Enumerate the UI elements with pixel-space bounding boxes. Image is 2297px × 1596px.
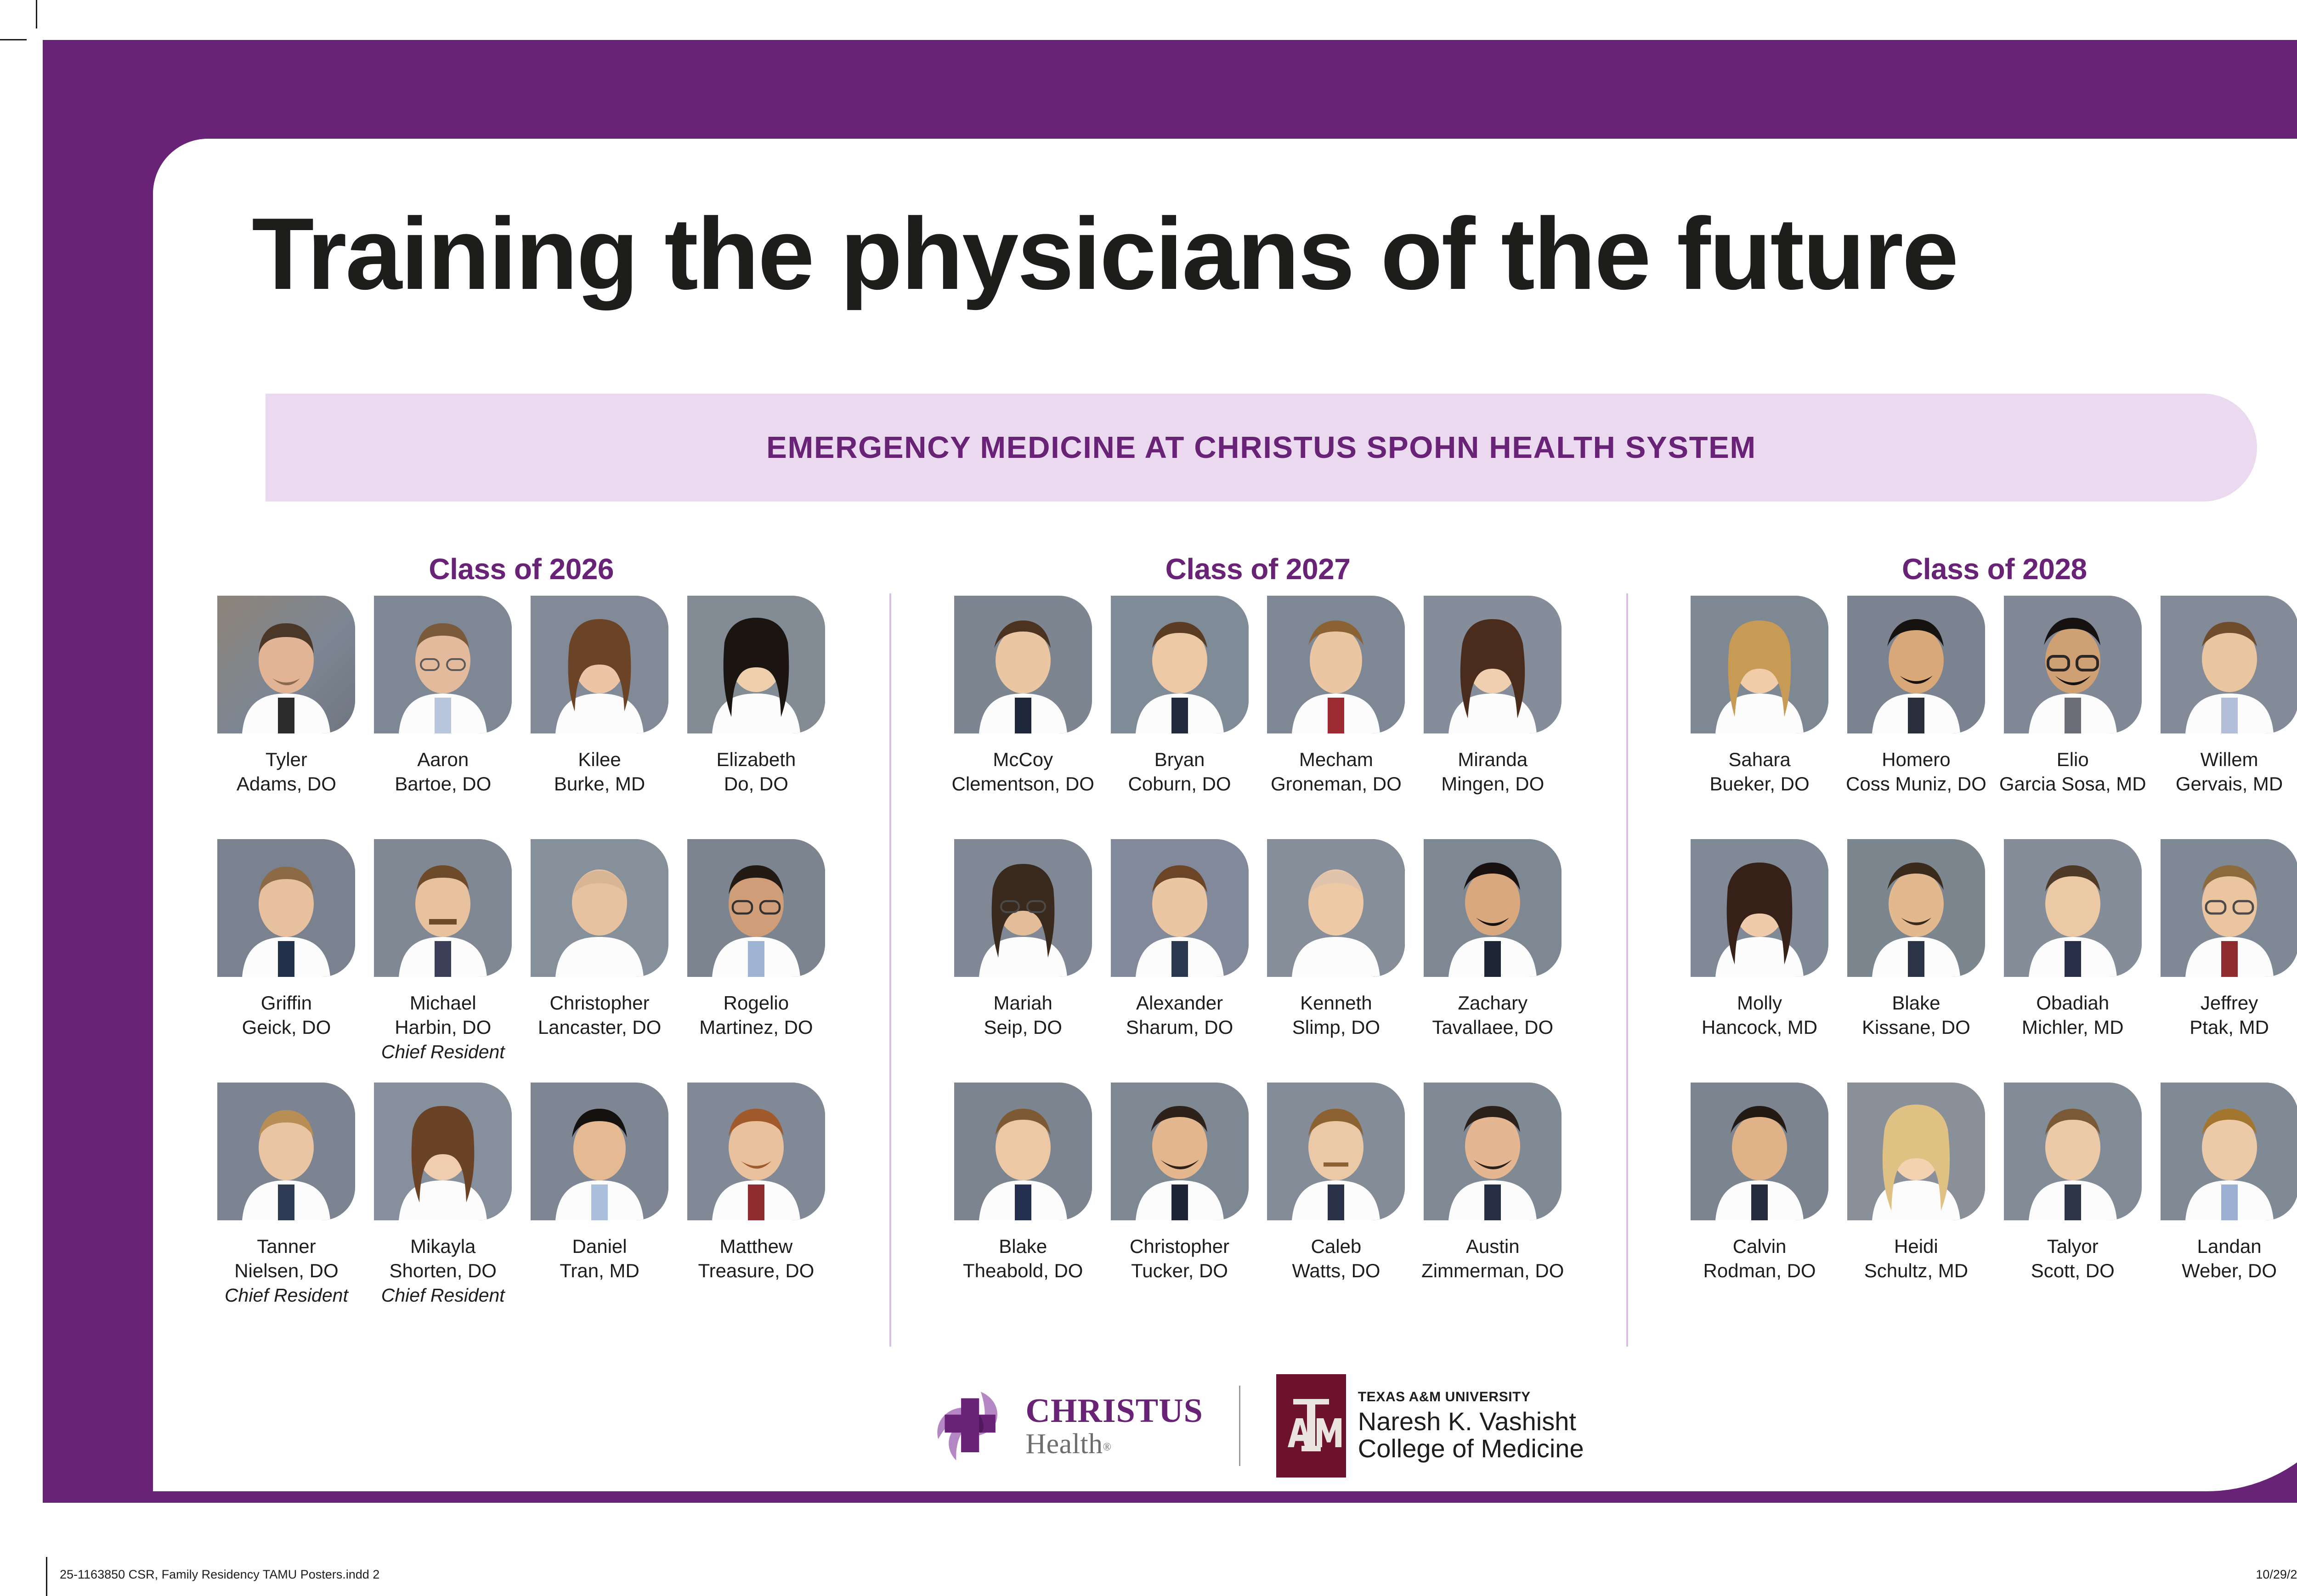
headshot-frame (531, 839, 668, 977)
resident-card[interactable]: Kilee Burke, MD (521, 596, 678, 839)
headshot-frame (1424, 839, 1562, 977)
resident-name: Calvin Rodman, DO (1703, 1234, 1816, 1283)
resident-name: Michael Harbin, DO (395, 991, 491, 1040)
headshot-photo (1111, 596, 1249, 733)
resident-card[interactable]: Calvin Rodman, DO (1681, 1083, 1838, 1326)
headshot-photo (1847, 596, 1985, 733)
headshot-photo (531, 596, 668, 733)
resident-name: Landan Weber, DO (2182, 1234, 2277, 1283)
resident-name: Matthew Treasure, DO (698, 1234, 814, 1283)
tamu-college-line: College of Medicine (1358, 1435, 1584, 1462)
resident-name: Jeffrey Ptak, MD (2190, 991, 2269, 1040)
resident-name: Heidi Schultz, MD (1864, 1234, 1968, 1283)
tamu-donor-name-line: Naresh K. Vashisht (1358, 1408, 1584, 1435)
resident-card[interactable]: Rogelio Martinez, DO (678, 839, 834, 1083)
headshot-frame (217, 1083, 355, 1220)
resident-card[interactable]: Landan Weber, DO (2151, 1083, 2297, 1326)
resident-name: Daniel Tran, MD (560, 1234, 639, 1283)
resident-card[interactable]: Sahara Bueker, DO (1681, 596, 1838, 839)
resident-card[interactable]: Molly Hancock, MD (1681, 839, 1838, 1083)
headshot-photo (374, 1083, 512, 1220)
resident-name: Tanner Nielsen, DO (234, 1234, 338, 1283)
headshot-photo (217, 839, 355, 977)
headshot-frame (2161, 596, 2297, 733)
poster-page: Training the physicians of the future EM… (0, 0, 2297, 1596)
resident-name: Bryan Coburn, DO (1128, 747, 1231, 796)
headshot-frame (1424, 596, 1562, 733)
headshot-photo (1847, 1083, 1985, 1220)
resident-name: Zachary Tavallaee, DO (1432, 991, 1553, 1040)
resident-card[interactable]: Willem Gervais, MD (2151, 596, 2297, 839)
headshot-photo (2004, 596, 2142, 733)
resident-name: Miranda Mingen, DO (1441, 747, 1544, 796)
resident-card[interactable]: Elio Garcia Sosa, MD (1994, 596, 2151, 839)
headshot-photo (1267, 839, 1405, 977)
headshot-photo (1691, 839, 1828, 977)
resident-card[interactable]: Austin Zimmerman, DO (1414, 1083, 1571, 1326)
atm-monogram-icon (1276, 1374, 1346, 1478)
resident-card[interactable]: Obadiah Michler, MD (1994, 839, 2151, 1083)
headshot-frame (1267, 1083, 1405, 1220)
column-divider-right (1626, 593, 1628, 1347)
class-column-2027: Class of 2027 McCoy Clementson, DO Bryan… (889, 552, 1626, 1448)
class-column-2026: Class of 2026 Tyler Adams, DO Aaron Bart… (153, 552, 889, 1448)
headshot-frame (1847, 1083, 1985, 1220)
headshot-frame (954, 596, 1092, 733)
atm-shield-icon (1276, 1374, 1346, 1478)
headshot-photo (2161, 839, 2297, 977)
headshot-photo (687, 596, 825, 733)
headshot-frame (374, 1083, 512, 1220)
headshot-photo (954, 596, 1092, 733)
resident-role: Chief Resident (381, 1283, 505, 1307)
headshot-photo (1267, 596, 1405, 733)
logo-separator (1239, 1386, 1240, 1466)
headshot-photo (531, 839, 668, 977)
resident-role: Chief Resident (381, 1040, 505, 1064)
footer-timestamp: 10/29/25 11:39 AM (2256, 1568, 2297, 1582)
headshot-photo (2004, 1083, 2142, 1220)
headshot-frame (2004, 1083, 2142, 1220)
resident-card[interactable]: Blake Theabold, DO (945, 1083, 1101, 1326)
resident-name: Caleb Watts, DO (1292, 1234, 1380, 1283)
resident-card[interactable]: Talyor Scott, DO (1994, 1083, 2151, 1326)
resident-card[interactable]: Daniel Tran, MD (521, 1083, 678, 1326)
headshot-photo (1424, 839, 1562, 977)
resident-card[interactable]: Caleb Watts, DO (1258, 1083, 1414, 1326)
headshot-photo (1424, 1083, 1562, 1220)
headshot-photo (2004, 839, 2142, 977)
headshot-photo (687, 839, 825, 977)
headshot-frame (1847, 596, 1985, 733)
headshot-photo (1111, 1083, 1249, 1220)
headshot-photo (687, 1083, 825, 1220)
headshot-frame (1847, 839, 1985, 977)
headshot-photo (2161, 596, 2297, 733)
resident-card[interactable]: Aaron Bartoe, DO (365, 596, 521, 839)
resident-name: Christopher Tucker, DO (1130, 1234, 1229, 1283)
christus-name: CHRISTUS (1025, 1394, 1203, 1428)
crop-mark-top-left-horizontal (0, 39, 27, 40)
headshot-frame (687, 1083, 825, 1220)
resident-name: Griffin Geick, DO (242, 991, 331, 1040)
headshot-frame (1111, 1083, 1249, 1220)
resident-name: Elizabeth Do, DO (717, 747, 796, 796)
resident-name: Alexander Sharum, DO (1126, 991, 1233, 1040)
resident-name: Kilee Burke, MD (554, 747, 645, 796)
headshot-frame (1691, 839, 1828, 977)
tamu-university-line: TEXAS A&M UNIVERSITY (1358, 1390, 1584, 1404)
resident-card[interactable]: Zachary Tavallaee, DO (1414, 839, 1571, 1083)
resident-name: Tyler Adams, DO (237, 747, 336, 796)
headshot-frame (374, 596, 512, 733)
texas-am-logo: TEXAS A&M UNIVERSITY Naresh K. Vashisht … (1276, 1374, 1584, 1478)
resident-card[interactable]: Elizabeth Do, DO (678, 596, 834, 839)
headshot-frame (1267, 596, 1405, 733)
resident-name: Aaron Bartoe, DO (395, 747, 491, 796)
headshot-photo (1691, 1083, 1828, 1220)
registered-mark-icon: ® (1103, 1441, 1112, 1453)
resident-card[interactable]: Alexander Sharum, DO (1101, 839, 1258, 1083)
headshot-photo (1691, 596, 1828, 733)
resident-card[interactable]: Jeffrey Ptak, MD (2151, 839, 2297, 1083)
resident-name: Mikayla Shorten, DO (390, 1234, 497, 1283)
poster-purple-plate: Training the physicians of the future EM… (43, 40, 2297, 1503)
resident-card[interactable]: Tanner Nielsen, DO Chief Resident (208, 1083, 365, 1326)
footer-filename: 25-1163850 CSR, Family Residency TAMU Po… (60, 1568, 379, 1582)
class-title-2027: Class of 2027 (889, 552, 1626, 596)
resident-card[interactable]: Blake Kissane, DO (1838, 839, 1994, 1083)
resident-card[interactable]: Heidi Schultz, MD (1838, 1083, 1994, 1326)
resident-grid-2027: McCoy Clementson, DO Bryan Coburn, DO Me… (889, 596, 1626, 1326)
headshot-frame (1111, 839, 1249, 977)
headshot-photo (954, 1083, 1092, 1220)
headshot-photo (1847, 839, 1985, 977)
headshot-photo (1111, 839, 1249, 977)
headshot-frame (1691, 1083, 1828, 1220)
resident-card[interactable]: Christopher Tucker, DO (1101, 1083, 1258, 1326)
headshot-photo (531, 1083, 668, 1220)
headshot-photo (2161, 1083, 2297, 1220)
resident-card[interactable]: Christopher Lancaster, DO (521, 839, 678, 1083)
christus-health-word: Health (1025, 1428, 1103, 1460)
resident-name: Blake Kissane, DO (1862, 991, 1970, 1040)
resident-card[interactable]: Miranda Mingen, DO (1414, 596, 1571, 839)
resident-grid-2026: Tyler Adams, DO Aaron Bartoe, DO Kilee B… (153, 596, 889, 1326)
headshot-photo (374, 596, 512, 733)
resident-name: Rogelio Martinez, DO (699, 991, 813, 1040)
resident-name: Homero Coss Muniz, DO (1846, 747, 1986, 796)
headshot-frame (2004, 596, 2142, 733)
resident-name: Austin Zimmerman, DO (1421, 1234, 1564, 1283)
class-columns: Class of 2026 Tyler Adams, DO Aaron Bart… (153, 552, 2297, 1448)
resident-name: Talyor Scott, DO (2031, 1234, 2115, 1283)
tamu-wordmark: TEXAS A&M UNIVERSITY Naresh K. Vashisht … (1358, 1390, 1584, 1462)
headshot-frame (2161, 1083, 2297, 1220)
resident-grid-2028: Sahara Bueker, DO Homero Coss Muniz, DO … (1626, 596, 2297, 1326)
resident-name: Kenneth Slimp, DO (1292, 991, 1380, 1040)
resident-name: Blake Theabold, DO (963, 1234, 1083, 1283)
job-code: 00-000000 (2261, 1501, 2297, 1514)
resident-name: McCoy Clementson, DO (952, 747, 1094, 796)
headshot-frame (687, 596, 825, 733)
resident-card[interactable]: Matthew Treasure, DO (678, 1083, 834, 1326)
resident-card[interactable]: Mariah Seip, DO (945, 839, 1101, 1083)
headshot-frame (954, 839, 1092, 977)
resident-card[interactable]: Tyler Adams, DO (208, 596, 365, 839)
headshot-frame (954, 1083, 1092, 1220)
headshot-frame (531, 596, 668, 733)
class-title-2026: Class of 2026 (153, 552, 889, 596)
headshot-photo (217, 1083, 355, 1220)
headshot-frame (1424, 1083, 1562, 1220)
headshot-photo (1267, 1083, 1405, 1220)
headshot-frame (1267, 839, 1405, 977)
resident-card[interactable]: Mikayla Shorten, DO Chief Resident (365, 1083, 521, 1326)
resident-role: Chief Resident (225, 1283, 348, 1307)
headshot-frame (531, 1083, 668, 1220)
class-column-2028: Class of 2028 Sahara Bueker, DO Homero C… (1626, 552, 2297, 1448)
subtitle-text: EMERGENCY MEDICINE AT CHRISTUS SPOHN HEA… (266, 394, 2257, 502)
headshot-photo (1424, 596, 1562, 733)
headshot-photo (217, 596, 355, 733)
logo-row: CHRISTUS Health® (153, 1374, 2297, 1478)
resident-card[interactable]: McCoy Clementson, DO (945, 596, 1101, 839)
christus-sub: Health® (1025, 1430, 1203, 1458)
resident-card[interactable]: Homero Coss Muniz, DO (1838, 596, 1994, 839)
headshot-photo (954, 839, 1092, 977)
headshot-frame (2004, 839, 2142, 977)
resident-name: Christopher Lancaster, DO (538, 991, 661, 1040)
resident-name: Obadiah Michler, MD (2022, 991, 2124, 1040)
resident-name: Elio Garcia Sosa, MD (1999, 747, 2146, 796)
subtitle-pill: EMERGENCY MEDICINE AT CHRISTUS SPOHN HEA… (266, 394, 2257, 502)
resident-name: Sahara Bueker, DO (1710, 747, 1810, 796)
resident-card[interactable]: Mecham Groneman, DO (1258, 596, 1414, 839)
resident-card[interactable]: Bryan Coburn, DO (1101, 596, 1258, 839)
class-title-2028: Class of 2028 (1626, 552, 2297, 596)
christus-health-logo: CHRISTUS Health® (932, 1385, 1203, 1467)
headshot-frame (374, 839, 512, 977)
crop-mark-top-left-vertical (36, 0, 37, 28)
headshot-frame (2161, 839, 2297, 977)
christus-cross-icon (932, 1385, 1013, 1467)
poster-white-card: Training the physicians of the future EM… (153, 139, 2297, 1491)
headshot-frame (687, 839, 825, 977)
headshot-frame (217, 596, 355, 733)
resident-card[interactable]: Michael Harbin, DO Chief Resident (365, 839, 521, 1083)
headshot-photo (374, 839, 512, 977)
christus-wordmark: CHRISTUS Health® (1025, 1394, 1203, 1458)
resident-card[interactable]: Griffin Geick, DO (208, 839, 365, 1083)
headshot-frame (1691, 596, 1828, 733)
headshot-frame (217, 839, 355, 977)
resident-card[interactable]: Kenneth Slimp, DO (1258, 839, 1414, 1083)
resident-name: Mariah Seip, DO (984, 991, 1062, 1040)
footer-rule-left (46, 1557, 47, 1596)
page-title: Training the physicians of the future (252, 203, 2273, 305)
resident-name: Molly Hancock, MD (1702, 991, 1817, 1040)
resident-name: Mecham Groneman, DO (1271, 747, 1402, 796)
resident-name: Willem Gervais, MD (2176, 747, 2283, 796)
headshot-frame (1111, 596, 1249, 733)
column-divider-left (889, 593, 891, 1347)
